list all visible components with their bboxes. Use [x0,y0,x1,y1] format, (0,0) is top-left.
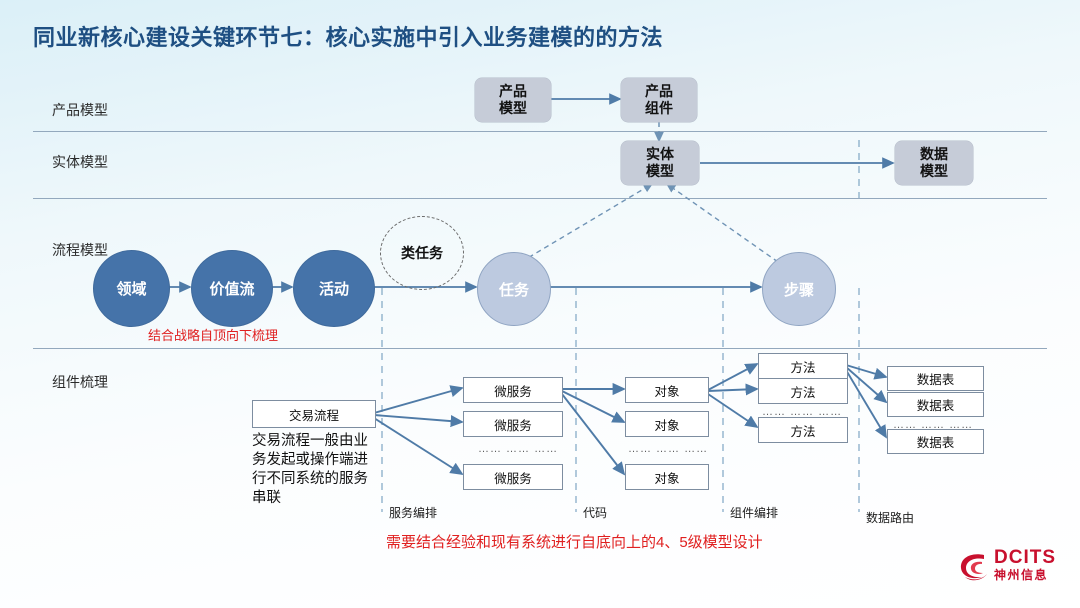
row-label-product-model: 产品模型 [52,100,108,120]
row-divider-1 [33,131,1047,132]
arrows-method-to-tables [846,365,886,437]
circle-class-task[interactable]: 类任务 [380,216,464,290]
box-method-3[interactable]: 方法 [758,417,848,443]
arrows-object-to-methods [708,364,757,427]
logo-wordmark: DCITS [994,548,1056,567]
box-data-table-1[interactable]: 数据表 [887,366,984,391]
row-divider-3 [33,348,1047,349]
box-product-model-line1: 产品 [499,83,527,100]
arrows-microservice-to-objects [562,389,624,474]
circle-task[interactable]: 任务 [477,252,551,326]
caption-service-orchestration: 服务编排 [389,504,437,521]
swim-guide-lines [382,140,859,512]
box-microservice-2[interactable]: 微服务 [463,411,563,437]
box-entity-model-line2: 模型 [646,163,674,180]
box-product-model[interactable]: 产品 模型 [475,78,551,122]
box-data-model[interactable]: 数据 模型 [895,141,973,185]
box-microservice-3[interactable]: 微服务 [463,464,563,490]
note-trade-flow: 交易流程一般由业务发起或操作端进行不同系统的服务串联 [252,432,372,509]
box-data-model-line2: 模型 [920,163,948,180]
box-object-3[interactable]: 对象 [625,464,709,490]
circle-step[interactable]: 步骤 [762,252,836,326]
box-object-2[interactable]: 对象 [625,411,709,437]
circle-domain[interactable]: 领域 [93,250,170,327]
arrow-step-to-entity [667,184,778,262]
arrow-task-to-entity [521,184,652,262]
box-data-table-3[interactable]: 数据表 [887,429,984,454]
box-product-component-line2: 组件 [645,100,673,117]
box-product-component-line1: 产品 [645,83,673,100]
arrows-tradeflow-to-microservices [374,388,462,474]
row-label-entity-model: 实体模型 [52,152,108,172]
row-label-process-model: 流程模型 [52,240,108,260]
box-method-1[interactable]: 方法 [758,353,848,379]
box-entity-model[interactable]: 实体 模型 [621,141,699,185]
brand-logo: DCITS 神州信息 [958,548,1070,596]
row-label-component-list: 组件梳理 [52,372,108,392]
swirl-logo-icon [958,550,992,584]
ellipsis-microservices: …… …… …… [478,443,558,455]
logo-subtitle: 神州信息 [994,569,1048,581]
slide-canvas: 同业新核心建设关键环节七：核心实施中引入业务建模的的方法 产品模型 实体模型 流… [0,0,1080,608]
caption-component-orchestration: 组件编排 [730,504,778,521]
box-object-1[interactable]: 对象 [625,377,709,403]
circle-activity[interactable]: 活动 [293,250,375,327]
caption-data-routing: 数据路由 [866,509,914,526]
box-data-model-line1: 数据 [920,146,948,163]
row-divider-2 [33,198,1047,199]
ellipsis-objects: …… …… …… [628,443,708,455]
box-entity-model-line1: 实体 [646,146,674,163]
annotation-bottom-up: 需要结合经验和现有系统进行自底向上的4、5级模型设计 [386,531,763,552]
page-title: 同业新核心建设关键环节七：核心实施中引入业务建模的的方法 [33,20,663,52]
circle-value-stream[interactable]: 价值流 [191,250,273,327]
box-product-component[interactable]: 产品 组件 [621,78,697,122]
box-trade-flow[interactable]: 交易流程 [252,400,376,428]
box-microservice-1[interactable]: 微服务 [463,377,563,403]
box-data-table-2[interactable]: 数据表 [887,392,984,417]
box-method-2[interactable]: 方法 [758,378,848,404]
box-product-model-line2: 模型 [499,100,527,117]
caption-code: 代码 [583,504,607,521]
annotation-top-down: 结合战略自顶向下梳理 [148,325,278,344]
